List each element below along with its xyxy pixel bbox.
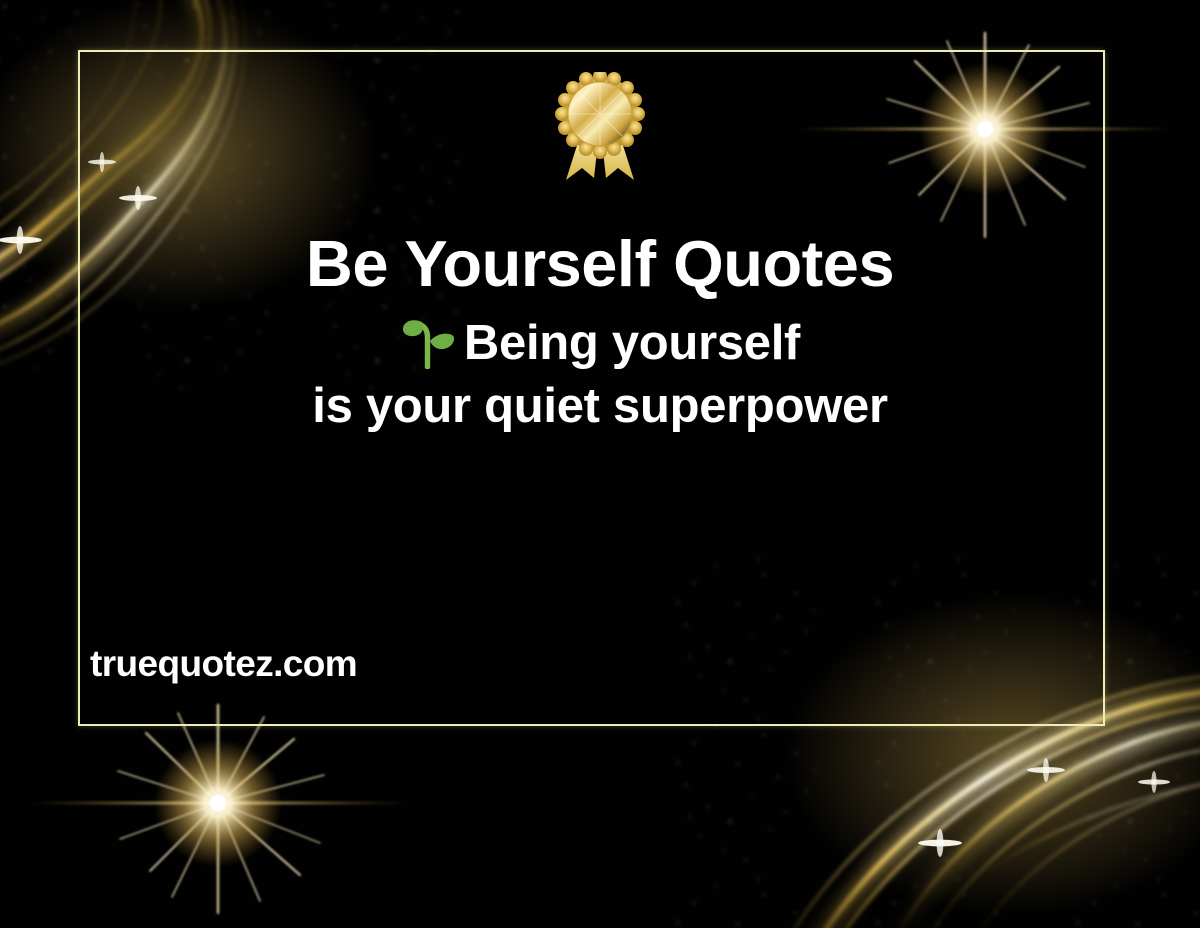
page-title: Be Yourself Quotes — [0, 230, 1200, 298]
award-badge — [0, 72, 1200, 188]
quote-poster: Be Yourself Quotes Being yourself is you… — [0, 0, 1200, 928]
quote-text: Being yourself is your quiet superpower — [0, 312, 1200, 437]
gold-rosette-icon — [552, 72, 648, 184]
quote-line-1: Being yourself — [0, 312, 1200, 375]
poster-content: Be Yourself Quotes Being yourself is you… — [0, 0, 1200, 928]
quote-line-2: is your quiet superpower — [0, 375, 1200, 438]
seedling-icon — [400, 317, 458, 369]
quote-line-1-text: Being yourself — [464, 316, 800, 370]
site-watermark: truequotez.com — [90, 643, 357, 685]
